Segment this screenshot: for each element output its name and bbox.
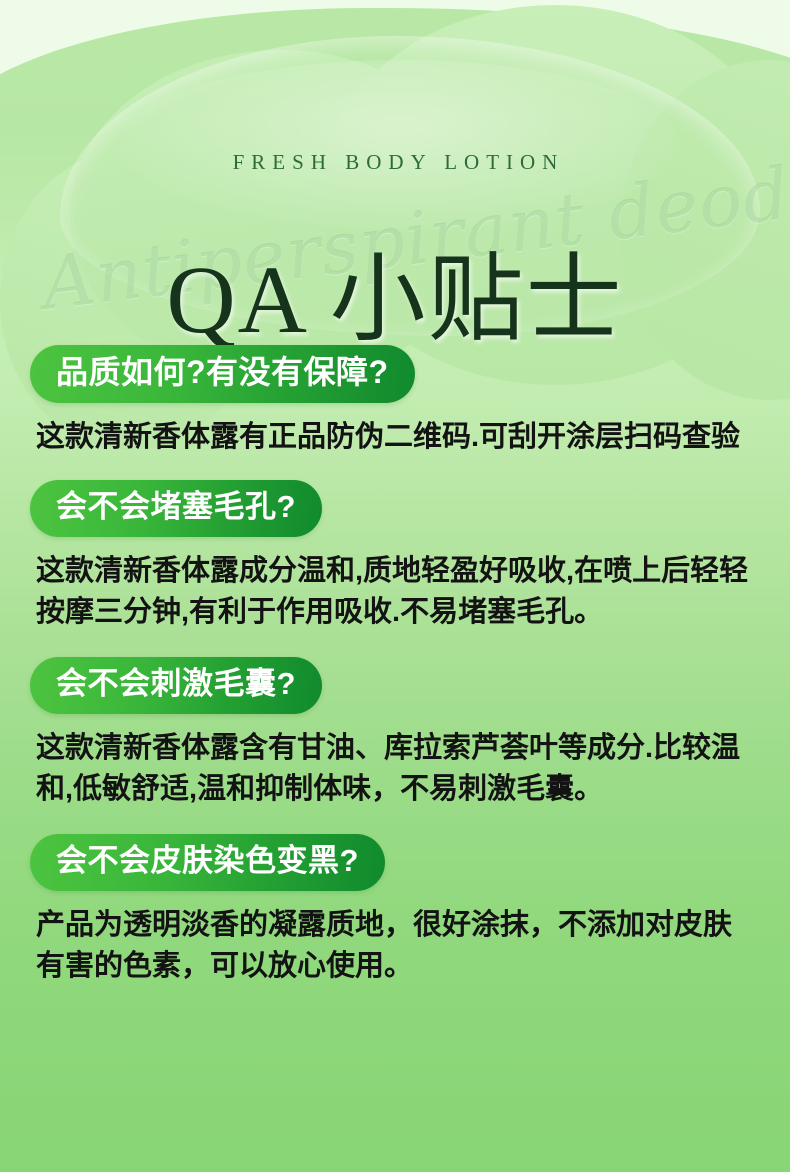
qa-answer-text: 这款清新香体露成分温和,质地轻盈好吸收,在喷上后轻轻按摩三分钟,有利于作用吸收.… [36, 551, 760, 633]
qa-question-badge[interactable]: 品质如何?有没有保障? [30, 345, 415, 403]
qa-item: 会不会刺激毛囊? 这款清新香体露含有甘油、库拉索芦荟叶等成分.比较温和,低敏舒适… [30, 657, 760, 810]
qa-question-badge[interactable]: 会不会皮肤染色变黑? [30, 834, 385, 891]
qa-answer-text: 这款清新香体露含有甘油、库拉索芦荟叶等成分.比较温和,低敏舒适,温和抑制体味，不… [36, 728, 760, 810]
qa-item: 品质如何?有没有保障? 这款清新香体露有正品防伪二维码.可刮开涂层扫码查验 [30, 345, 760, 458]
qa-question-badge[interactable]: 会不会刺激毛囊? [30, 657, 322, 714]
eyebrow-label: FRESH BODY LOTION [0, 150, 790, 175]
page-title: QA 小贴士 [0, 250, 790, 351]
qa-item: 会不会皮肤染色变黑? 产品为透明淡香的凝露质地，很好涂抹，不添加对皮肤有害的色素… [30, 834, 760, 987]
qa-answer-text: 这款清新香体露有正品防伪二维码.可刮开涂层扫码查验 [36, 417, 760, 458]
qa-list: 品质如何?有没有保障? 这款清新香体露有正品防伪二维码.可刮开涂层扫码查验 会不… [0, 345, 790, 987]
promo-page: Antiperspirant deodorant FRESH BODY LOTI… [0, 0, 790, 1172]
qa-question-badge[interactable]: 会不会堵塞毛孔? [30, 480, 322, 537]
qa-answer-text: 产品为透明淡香的凝露质地，很好涂抹，不添加对皮肤有害的色素，可以放心使用。 [36, 905, 760, 987]
qa-item: 会不会堵塞毛孔? 这款清新香体露成分温和,质地轻盈好吸收,在喷上后轻轻按摩三分钟… [30, 480, 760, 633]
